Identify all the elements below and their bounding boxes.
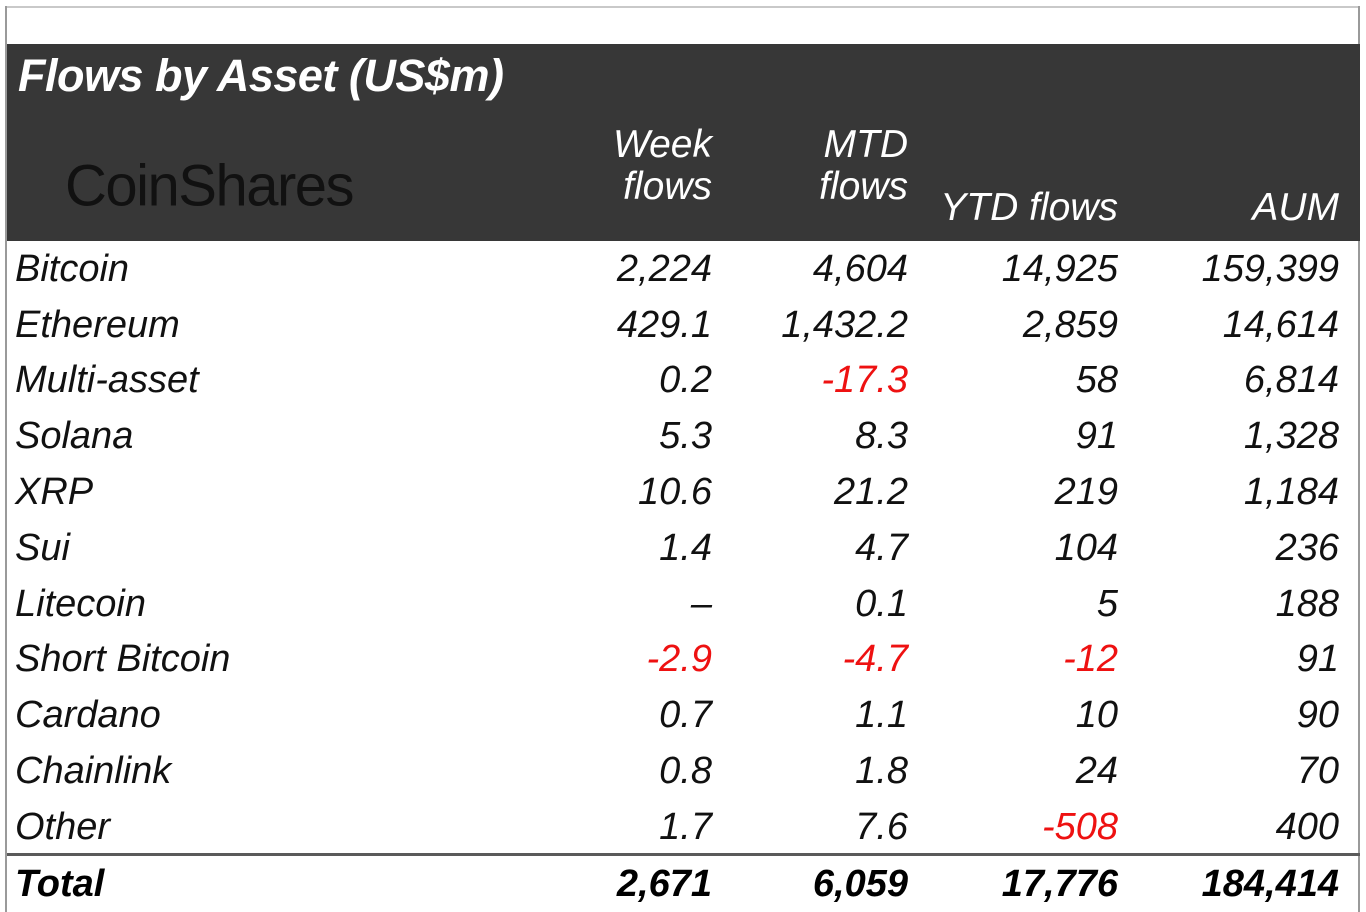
cell-ytd-flows: -12	[912, 640, 1118, 678]
cell-week-flows: 5.3	[412, 417, 712, 455]
row-label: Solana	[15, 417, 133, 455]
cell-aum: 90	[1112, 696, 1339, 734]
cell-ytd-flows: -508	[912, 808, 1118, 846]
table-header-band: Flows by Asset (US$m) CoinShares Week fl…	[7, 44, 1360, 241]
table-row: Bitcoin2,2244,60414,925159,399	[7, 241, 1360, 297]
cell-aum: 91	[1112, 640, 1339, 678]
table-row: XRP10.621.22191,184	[7, 464, 1360, 520]
row-label: Cardano	[15, 696, 161, 734]
cell-week-flows: -2.9	[412, 640, 712, 678]
cell-mtd-flows: 7.6	[712, 808, 908, 846]
row-label: Multi-asset	[15, 361, 199, 399]
row-label: Sui	[15, 529, 70, 567]
cell-week-flows: 2,224	[412, 250, 712, 288]
column-header-aum-label: AUM	[1117, 187, 1339, 229]
cell-ytd-flows: 2,859	[912, 306, 1118, 344]
cell-ytd-flows: 91	[912, 417, 1118, 455]
cell-ytd-flows: 14,925	[912, 250, 1118, 288]
cell-mtd-flows: -17.3	[712, 361, 908, 399]
row-label: Bitcoin	[15, 250, 129, 288]
cell-ytd-flows: 5	[912, 585, 1118, 623]
table-row: Short Bitcoin-2.9-4.7-1291	[7, 632, 1360, 688]
table-row: Cardano0.71.11090	[7, 687, 1360, 743]
table-body: Bitcoin2,2244,60414,925159,399Ethereum42…	[7, 241, 1360, 912]
cell-aum: 14,614	[1112, 306, 1339, 344]
column-header-week-line2: flows	[407, 166, 712, 208]
cell-week-flows: 0.8	[412, 752, 712, 790]
cell-mtd-flows: 4,604	[712, 250, 908, 288]
column-header-mtd-flows: MTD flows	[707, 124, 908, 208]
table-row: Other1.77.6-508400	[7, 799, 1360, 855]
row-label: Short Bitcoin	[15, 640, 230, 678]
column-header-week-flows: Week flows	[407, 124, 712, 208]
total-aum: 184,414	[1112, 865, 1339, 903]
table-row: Sui1.44.7104236	[7, 520, 1360, 576]
column-header-ytd-label: YTD flows	[907, 187, 1118, 229]
cell-aum: 159,399	[1112, 250, 1339, 288]
cell-aum: 236	[1112, 529, 1339, 567]
column-header-week-line1: Week	[407, 124, 712, 166]
cell-ytd-flows: 24	[912, 752, 1118, 790]
card-top-border	[5, 6, 1360, 8]
cell-week-flows: 10.6	[412, 473, 712, 511]
row-label: Other	[15, 808, 110, 846]
cell-week-flows: 1.4	[412, 529, 712, 567]
table-row: Ethereum429.11,432.22,85914,614	[7, 297, 1360, 353]
cell-mtd-flows: 8.3	[712, 417, 908, 455]
cell-ytd-flows: 58	[912, 361, 1118, 399]
cell-ytd-flows: 10	[912, 696, 1118, 734]
cell-aum: 1,184	[1112, 473, 1339, 511]
total-week-flows: 2,671	[412, 865, 712, 903]
table-row: Multi-asset0.2-17.3586,814	[7, 353, 1360, 409]
row-label: Ethereum	[15, 306, 180, 344]
cell-ytd-flows: 104	[912, 529, 1118, 567]
row-label: XRP	[15, 473, 93, 511]
cell-week-flows: 1.7	[412, 808, 712, 846]
cell-mtd-flows: -4.7	[712, 640, 908, 678]
coinshares-logo: CoinShares	[65, 153, 353, 220]
cell-aum: 70	[1112, 752, 1339, 790]
column-header-aum: AUM	[1117, 187, 1339, 229]
cell-mtd-flows: 21.2	[712, 473, 908, 511]
cell-mtd-flows: 0.1	[712, 585, 908, 623]
cell-aum: 188	[1112, 585, 1339, 623]
column-header-mtd-line2: flows	[707, 166, 908, 208]
cell-ytd-flows: 219	[912, 473, 1118, 511]
total-mtd-flows: 6,059	[712, 865, 908, 903]
cell-mtd-flows: 1,432.2	[712, 306, 908, 344]
cell-week-flows: –	[412, 585, 712, 623]
cell-week-flows: 0.2	[412, 361, 712, 399]
cell-aum: 400	[1112, 808, 1339, 846]
flows-by-asset-table-card: Flows by Asset (US$m) CoinShares Week fl…	[0, 0, 1366, 912]
cell-aum: 1,328	[1112, 417, 1339, 455]
table-row: Solana5.38.3911,328	[7, 408, 1360, 464]
table-row: Litecoin–0.15188	[7, 576, 1360, 632]
column-header-mtd-line1: MTD	[707, 124, 908, 166]
column-header-ytd-flows: YTD flows	[907, 187, 1118, 229]
table-row: Chainlink0.81.82470	[7, 743, 1360, 799]
cell-week-flows: 0.7	[412, 696, 712, 734]
cell-aum: 6,814	[1112, 361, 1339, 399]
cell-mtd-flows: 1.1	[712, 696, 908, 734]
total-ytd-flows: 17,776	[912, 865, 1118, 903]
cell-mtd-flows: 1.8	[712, 752, 908, 790]
total-label: Total	[15, 865, 104, 903]
row-label: Litecoin	[15, 585, 146, 623]
cell-week-flows: 429.1	[412, 306, 712, 344]
row-label: Chainlink	[15, 752, 171, 790]
cell-mtd-flows: 4.7	[712, 529, 908, 567]
page-title: Flows by Asset (US$m)	[18, 50, 503, 102]
table-row-total: Total 2,671 6,059 17,776 184,414	[7, 856, 1360, 912]
